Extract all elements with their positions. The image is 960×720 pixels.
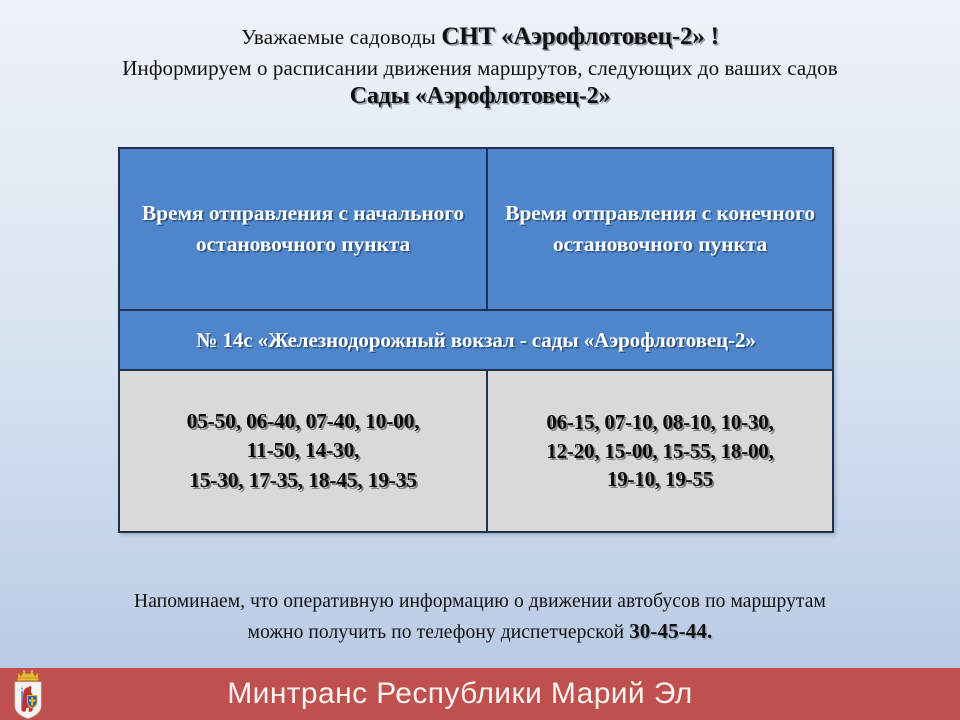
header-block: Уважаемые садоводы СНТ «Аэрофлотовец-2» … — [0, 22, 960, 111]
coat-of-arms-mari-el-icon — [6, 668, 50, 720]
header-line-1-strong: СНТ «Аэрофлотовец-2» ! — [441, 23, 718, 50]
table-header-row: Время отправления с начального остановоч… — [119, 148, 833, 310]
route-label: № 14с «Железнодорожный вокзал - сады «Аэ… — [119, 310, 833, 370]
dispatcher-phone: 30-45-44. — [629, 619, 712, 643]
header-line-1-plain: Уважаемые садоводы — [241, 25, 441, 49]
column-header-start: Время отправления с начального остановоч… — [119, 148, 487, 310]
schedule-table: Время отправления с начального остановоч… — [118, 147, 834, 533]
dispatcher-note-prefix: можно получить по телефону диспетчерской — [248, 622, 630, 643]
dispatcher-note-line-1: Напоминаем, что оперативную информацию о… — [0, 588, 960, 616]
ministry-banner: Минтранс Республики Марий Эл — [0, 668, 960, 720]
banner-title: Минтранс Республики Марий Эл — [0, 677, 960, 711]
departures-from-start: 05-50, 06-40, 07-40, 10-00, 11-50, 14-30… — [119, 370, 487, 532]
dispatcher-note: Напоминаем, что оперативную информацию о… — [0, 588, 960, 648]
dispatcher-note-line-2: можно получить по телефону диспетчерской… — [0, 616, 960, 647]
departures-from-end: 06-15, 07-10, 08-10, 10-30, 12-20, 15-00… — [487, 370, 833, 532]
table-row: 05-50, 06-40, 07-40, 10-00, 11-50, 14-30… — [119, 370, 833, 532]
header-line-1: Уважаемые садоводы СНТ «Аэрофлотовец-2» … — [0, 22, 960, 51]
column-header-end: Время отправления с конечного остановочн… — [487, 148, 833, 310]
slide-root: Уважаемые садоводы СНТ «Аэрофлотовец-2» … — [0, 0, 960, 720]
header-line-3: Сады «Аэрофлотовец-2» — [0, 83, 960, 111]
table-route-row: № 14с «Железнодорожный вокзал - сады «Аэ… — [119, 310, 833, 370]
header-line-2: Информируем о расписании движения маршру… — [0, 56, 960, 80]
